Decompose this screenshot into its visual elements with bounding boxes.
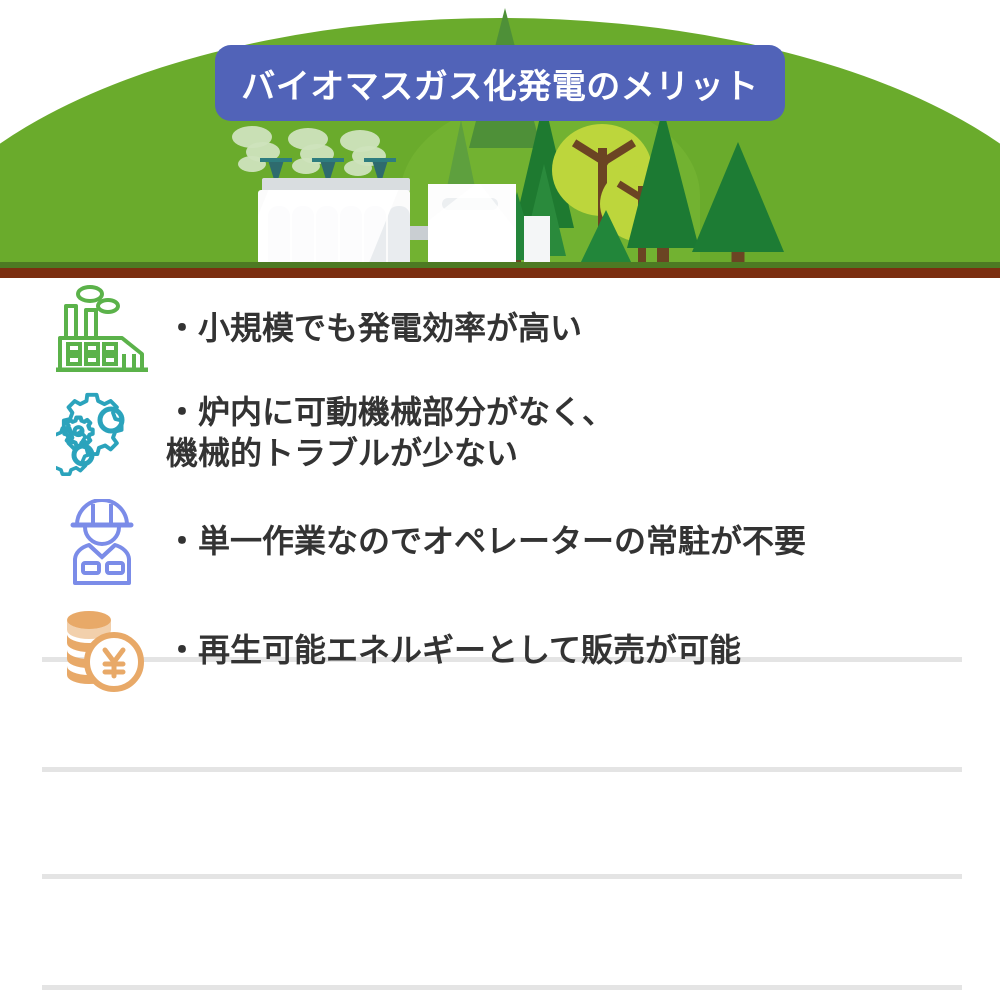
ground-soil-strip [0,268,1000,278]
plant-main-building [258,190,410,264]
worker-helmet-icon [46,499,158,585]
list-separator [42,767,962,772]
coins-yen-icon [46,606,158,696]
page-title: バイオマスガス化発電のメリット [241,59,759,108]
list-separator [42,874,962,879]
list-item[interactable]: ・再生可能エネルギーとして販売が可能 [0,595,1000,706]
gears-icon [46,387,158,479]
list-item[interactable]: ・炉内に可動機械部分がなく、 機械的トラブルが少ない [0,378,1000,488]
chimney-vent-top [260,158,292,162]
plant-secondary-building [428,184,516,264]
list-item-text: ・単一作業なのでオペレーターの常駐が不要 [158,521,1000,562]
benefits-list: ・小規模でも発電効率が高い ・炉内に可動機械部分がなく、 機械的トラブルが少ない [0,278,1000,706]
smoke-puff [344,160,372,176]
chimney-vent-top [364,158,396,162]
chimney-vent-top [312,158,344,162]
list-item[interactable]: ・単一作業なのでオペレーターの常駐が不要 [0,488,1000,595]
list-item[interactable]: ・小規模でも発電効率が高い [0,278,1000,378]
list-item-text: ・再生可能エネルギーとして販売が可能 [158,630,1000,671]
list-separator [42,985,962,990]
factory-icon [46,284,158,372]
list-item-text: ・炉内に可動機械部分がなく、 機械的トラブルが少ない [158,392,1000,474]
small-post [524,216,550,264]
hero-illustration: バイオマスガス化発電のメリット [0,0,1000,278]
title-banner: バイオマスガス化発電のメリット [215,45,785,121]
list-item-text: ・小規模でも発電効率が高い [158,308,1000,349]
pine-tree [690,142,786,274]
